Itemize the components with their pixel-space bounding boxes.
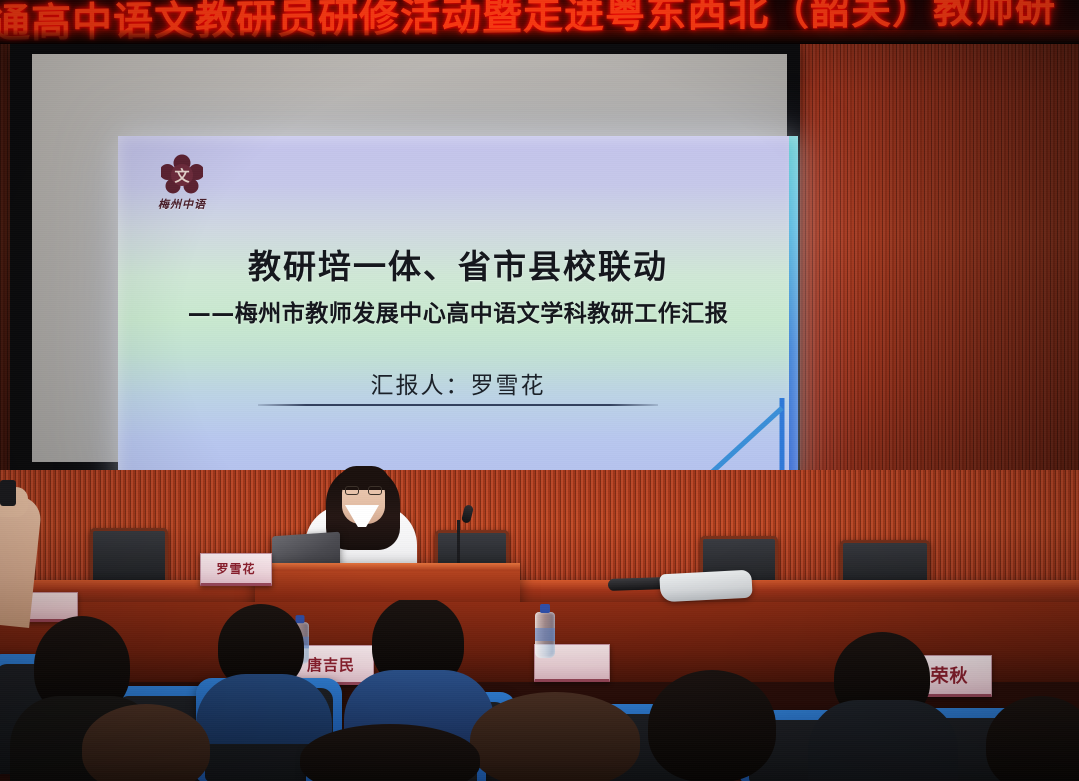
led-banner-glow	[0, 30, 1079, 44]
phone-raised[interactable]	[0, 480, 16, 506]
microphone-on-table-icon	[608, 577, 666, 591]
presenter-glasses-icon	[345, 486, 382, 495]
audience-person-head	[648, 670, 776, 781]
audience-person-head	[470, 692, 640, 781]
svg-text:文: 文	[174, 167, 190, 185]
slide-subtitle: ——梅州市教师发展中心高中语文学科教研工作汇报	[118, 294, 798, 328]
conference-room-photo: 通高中语文教研员研修活动暨走进粤东西北（韶关）教师研	[0, 0, 1079, 781]
presentation-slide: 文 梅州中语 教研培一体、省市县校联动 ——梅州市教师发展中心高中语文学科教研工…	[118, 136, 798, 488]
podium-edge	[255, 563, 520, 571]
nameplate-presenter: 罗雪花	[200, 553, 272, 586]
audience-person-shoulders	[808, 700, 958, 781]
slide-logo: 文 梅州中语	[146, 154, 218, 212]
slide-presenter-rule	[258, 404, 658, 406]
projection-screen: 文 梅州中语 教研培一体、省市县校联动 ——梅州市教师发展中心高中语文学科教研工…	[10, 44, 800, 474]
slide-title: 教研培一体、省市县校联动	[118, 240, 798, 288]
slide-logo-caption: 梅州中语	[146, 196, 218, 212]
led-banner: 通高中语文教研员研修活动暨走进粤东西北（韶关）教师研	[0, 0, 1079, 44]
slide-presenter-line: 汇报人：罗雪花	[371, 366, 546, 407]
plum-blossom-logo-icon: 文	[161, 154, 203, 194]
wall-shadow-right	[779, 0, 1079, 520]
audience-person-shoulders	[196, 674, 332, 744]
slide-presenter-wrap: 汇报人：罗雪花	[118, 366, 798, 407]
papers-on-table	[659, 570, 752, 603]
audience-area	[0, 600, 1079, 781]
